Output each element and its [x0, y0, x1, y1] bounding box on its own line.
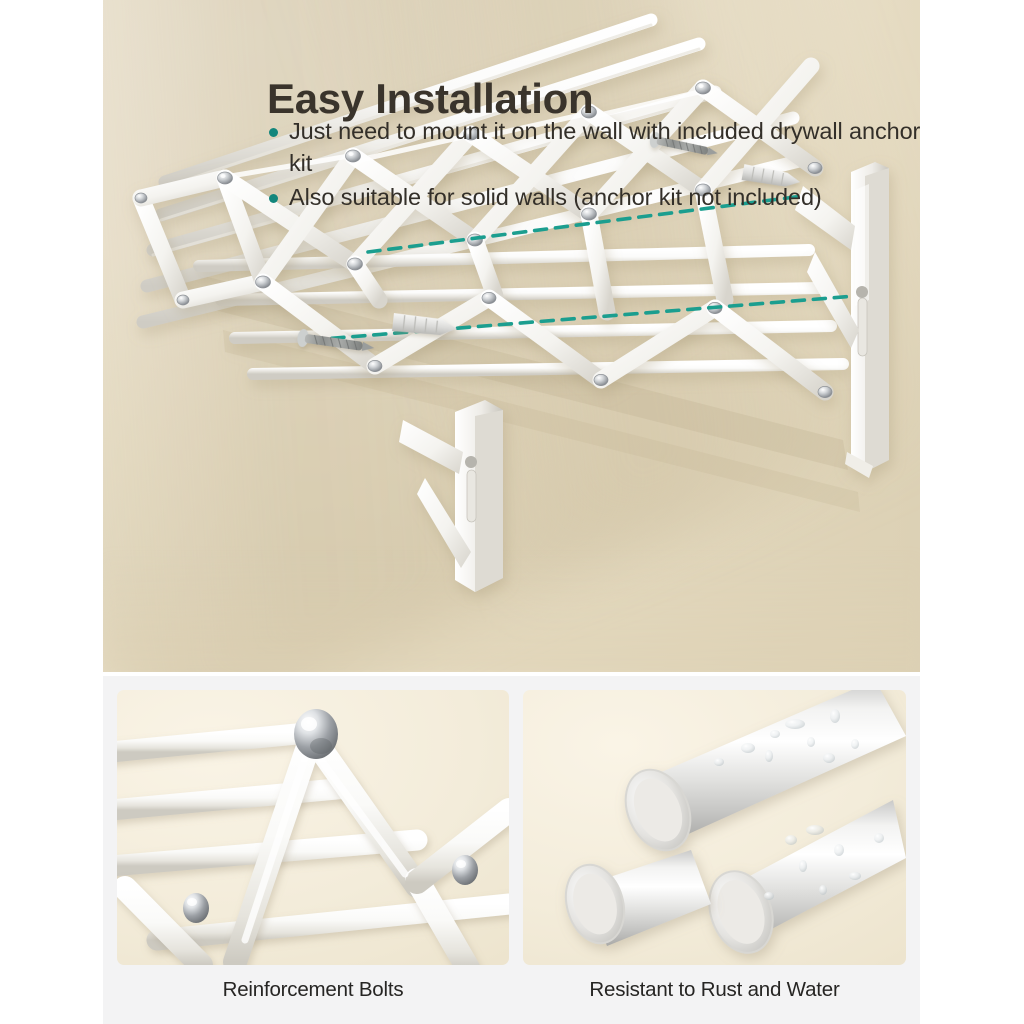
hero-panel: Easy Installation Just need to mount it … [103, 0, 920, 672]
tube-small-left [557, 850, 711, 950]
list-item: Just need to mount it on the wall with i… [269, 115, 920, 179]
bullet-dot-icon [269, 194, 278, 203]
feature-panel-tubes [523, 690, 906, 965]
tube-front [698, 800, 906, 962]
reinforcement-bolts-illustration [117, 690, 509, 965]
infographic-page: Easy Installation Just need to mount it … [0, 0, 1024, 1024]
hero-floor-gradient [103, 552, 920, 672]
panel-caption-tubes: Resistant to Rust and Water [523, 978, 906, 1002]
feature-panel-row: Reinforcement Bolts [103, 676, 920, 1024]
list-item: Also suitable for solid walls (anchor ki… [269, 181, 920, 213]
bullet-text: Also suitable for solid walls (anchor ki… [289, 181, 822, 213]
feature-bullet-list: Just need to mount it on the wall with i… [269, 115, 920, 215]
bullet-text: Just need to mount it on the wall with i… [289, 115, 920, 179]
panel-caption-bolts: Reinforcement Bolts [117, 978, 509, 1002]
feature-panel-bolts [117, 690, 509, 965]
bullet-dot-icon [269, 128, 278, 137]
metal-tubes-illustration [523, 690, 906, 965]
